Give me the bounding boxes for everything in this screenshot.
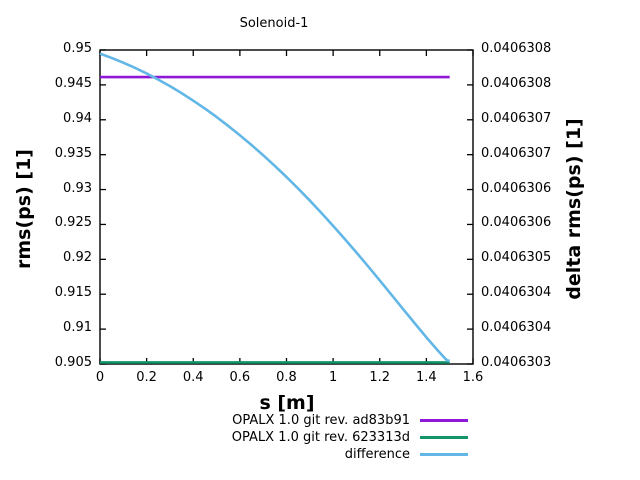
y-tick-label-right: 0.0406306 xyxy=(481,181,581,196)
y-tick-label-right: 0.0406306 xyxy=(481,215,581,230)
legend-color-swatch xyxy=(420,419,468,422)
chart-legend: OPALX 1.0 git rev. ad83b91OPALX 1.0 git … xyxy=(0,412,640,463)
y-tick-label-right: 0.0406304 xyxy=(481,285,581,300)
legend-label: OPALX 1.0 git rev. 623313d xyxy=(232,430,410,445)
legend-item[interactable]: OPALX 1.0 git rev. 623313d xyxy=(0,429,640,446)
x-tick-label: 0.2 xyxy=(122,370,172,385)
y-tick-label-left: 0.925 xyxy=(4,215,92,230)
y-tick-label-left: 0.915 xyxy=(4,285,92,300)
chart-title: Solenoid-1 xyxy=(0,16,594,31)
x-tick-label: 0.6 xyxy=(215,370,265,385)
legend-color-swatch xyxy=(420,436,468,439)
plot-frame xyxy=(100,50,473,364)
x-axis-label: s [m] xyxy=(100,392,474,414)
y-tick-label-right: 0.0406303 xyxy=(481,355,581,370)
x-tick-label: 0 xyxy=(75,370,125,385)
chart-figure: Solenoid-1 rms(ps) [1] delta rms(ps) [1]… xyxy=(0,0,640,480)
legend-label: difference xyxy=(345,447,410,462)
series-line-2 xyxy=(100,54,450,361)
legend-label: OPALX 1.0 git rev. ad83b91 xyxy=(232,413,410,428)
legend-color-swatch xyxy=(420,453,468,456)
y-tick-label-left: 0.93 xyxy=(4,181,92,196)
y-tick-label-left: 0.94 xyxy=(4,111,92,126)
y-tick-label-left: 0.905 xyxy=(4,355,92,370)
x-tick-label: 0.8 xyxy=(262,370,312,385)
legend-item[interactable]: difference xyxy=(0,446,640,463)
x-tick-label: 1.6 xyxy=(448,370,498,385)
y-tick-label-right: 0.0406305 xyxy=(481,250,581,265)
y-tick-label-right: 0.0406308 xyxy=(481,41,581,56)
x-tick-label: 1.2 xyxy=(355,370,405,385)
y-tick-label-left: 0.945 xyxy=(4,76,92,91)
y-tick-label-right: 0.0406304 xyxy=(481,320,581,335)
y-tick-label-left: 0.935 xyxy=(4,146,92,161)
x-tick-label: 0.4 xyxy=(168,370,218,385)
y-tick-label-left: 0.95 xyxy=(4,41,92,56)
x-tick-label: 1 xyxy=(308,370,358,385)
y-tick-label-right: 0.0406308 xyxy=(481,76,581,91)
y-tick-label-left: 0.92 xyxy=(4,250,92,265)
y-tick-label-right: 0.0406307 xyxy=(481,146,581,161)
y-tick-label-right: 0.0406307 xyxy=(481,111,581,126)
y-tick-label-left: 0.91 xyxy=(4,320,92,335)
x-tick-label: 1.4 xyxy=(401,370,451,385)
legend-item[interactable]: OPALX 1.0 git rev. ad83b91 xyxy=(0,412,640,429)
